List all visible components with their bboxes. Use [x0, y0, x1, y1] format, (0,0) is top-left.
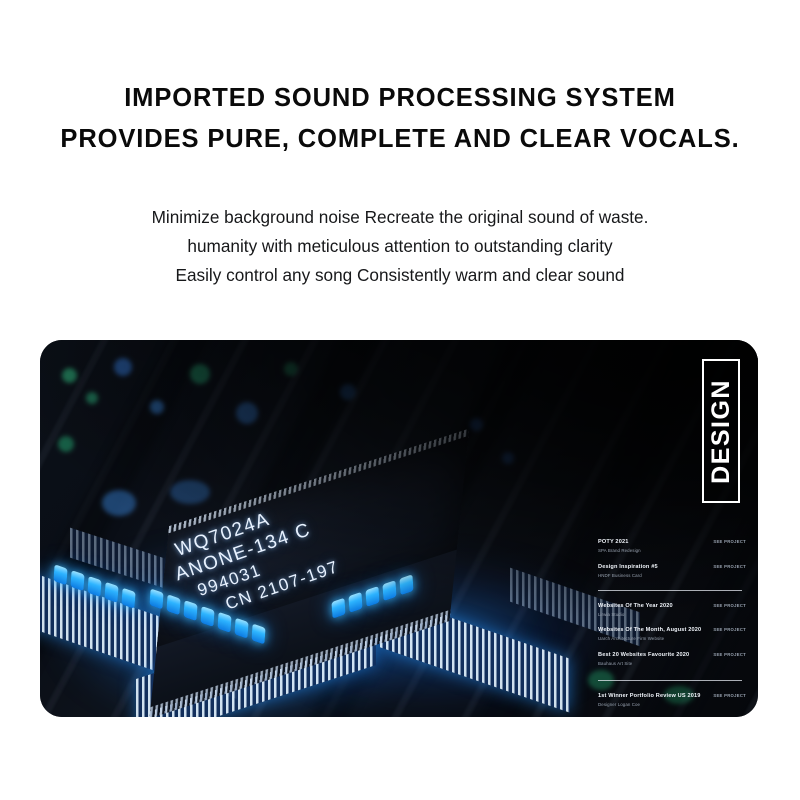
award-subtitle: Designer Logan Coe — [598, 701, 746, 708]
award-subtitle: SPA Brand Redesign — [598, 547, 746, 554]
see-project-link[interactable]: SEE PROJECT — [713, 564, 746, 569]
awards-divider — [598, 590, 742, 591]
see-project-link[interactable]: SEE PROJECT — [713, 652, 746, 657]
award-subtitle: Lirwia Studio — [598, 611, 746, 618]
product-photo-panel: DESIGN POTY 2021 SPA Brand Redesign SEE … — [40, 340, 758, 717]
headline-line-1: IMPORTED SOUND PROCESSING SYSTEM — [0, 78, 800, 119]
award-item-poty-2021[interactable]: POTY 2021 SPA Brand Redesign SEE PROJECT — [598, 538, 746, 557]
award-item-1st-winner-portfolio[interactable]: 1st Winner Portfolio Review US 2019 Desi… — [598, 692, 746, 711]
award-item-websites-of-the-month[interactable]: Websites Of The Month, August 2020 Uarch… — [598, 626, 746, 645]
design-badge: DESIGN — [702, 359, 740, 503]
awards-divider-2 — [598, 680, 742, 681]
awards-list: POTY 2021 SPA Brand Redesign SEE PROJECT… — [598, 538, 746, 716]
see-project-link[interactable]: SEE PROJECT — [713, 603, 746, 608]
award-item-design-inspiration[interactable]: Design Inspiration #5 HNDF Business Card… — [598, 563, 746, 582]
award-subtitle: Bauhaus Art Site — [598, 660, 746, 667]
award-subtitle: Uarch Architecture Firm Website — [598, 635, 746, 642]
headline-line-2: PROVIDES PURE, COMPLETE AND CLEAR VOCALS… — [0, 119, 800, 160]
subtitle-line-3: Easily control any song Consistently war… — [0, 261, 800, 290]
see-project-link[interactable]: SEE PROJECT — [713, 693, 746, 698]
subtitle-line-2: humanity with meticulous attention to ou… — [0, 232, 800, 261]
page-headline: IMPORTED SOUND PROCESSING SYSTEM PROVIDE… — [0, 78, 800, 160]
see-project-link[interactable]: SEE PROJECT — [713, 539, 746, 544]
award-item-websites-of-the-year[interactable]: Websites Of The Year 2020 Lirwia Studio … — [598, 602, 746, 621]
award-item-best-20-websites[interactable]: Best 20 Websites Favourite 2020 Bauhaus … — [598, 651, 746, 670]
design-badge-label: DESIGN — [707, 379, 736, 484]
subtitle-line-1: Minimize background noise Recreate the o… — [0, 203, 800, 232]
see-project-link[interactable]: SEE PROJECT — [713, 627, 746, 632]
award-subtitle: HNDF Business Card — [598, 572, 746, 579]
page-subtitle: Minimize background noise Recreate the o… — [0, 203, 800, 290]
